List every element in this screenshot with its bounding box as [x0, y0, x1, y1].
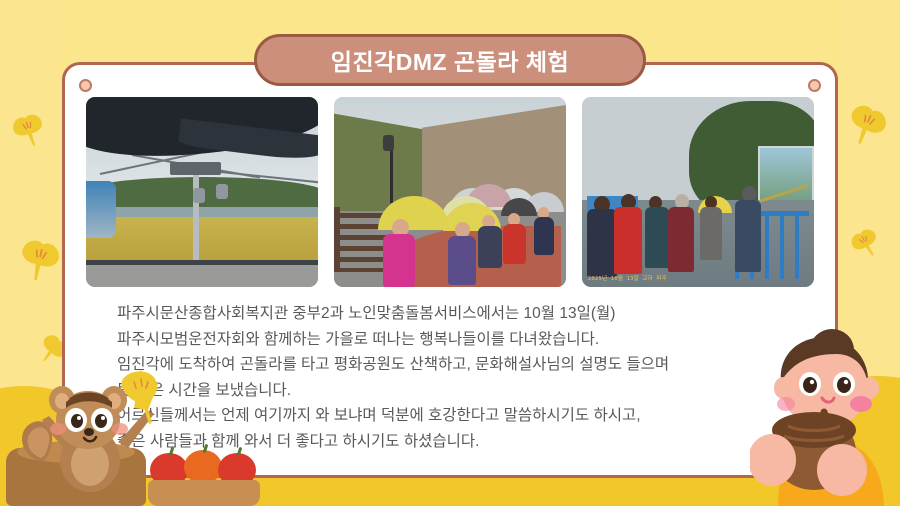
description-line: 파주시모범운전자회와 함께하는 가을로 떠나는 행복나들이를 다녀왔습니다. [117, 327, 809, 353]
gondola-cabin-far [216, 184, 228, 199]
person-purple-jacket [448, 236, 476, 285]
girl-with-acorn-mascot [750, 328, 900, 506]
photo-stamp: 2025년 10월 13일 교하 파주 [588, 274, 667, 282]
content-card: 2025년 10월 13일 교하 파주 파주시문산종합사회복지관 중부2과 노인… [62, 62, 838, 478]
page-title: 임진각DMZ 곤돌라 체험 [331, 43, 569, 77]
card-stud-top-right [808, 79, 821, 92]
person-magenta-jacket [383, 234, 415, 287]
person-navy-jacket [478, 226, 502, 268]
photo-guide-explaining[interactable]: 2025년 10월 13일 교하 파주 [582, 97, 814, 287]
wicker-basket [148, 480, 260, 506]
person-floral-jacket [587, 209, 617, 277]
description-text: 파주시문산종합사회복지관 중부2과 노인맞춤돌봄서비스에서는 10월 13일(월… [117, 301, 809, 454]
title-banner: 임진각DMZ 곤돌라 체험 [254, 34, 646, 86]
person-maroon-jacket [668, 207, 694, 272]
gondola-cabin-far [193, 188, 205, 203]
guide-person [735, 200, 761, 272]
poster-canvas: 2025년 10월 13일 교하 파주 파주시문산종합사회복지관 중부2과 노인… [0, 0, 900, 506]
gondola-mast [193, 169, 199, 260]
description-line: 임진각에 도착하여 곤돌라를 타고 평화공원도 산책하고, 문화해설사님의 설명… [117, 352, 809, 378]
gondola-tower-head [170, 162, 221, 175]
photo-gondola-station[interactable] [86, 97, 318, 287]
photo-seniors-umbrellas[interactable] [334, 97, 566, 287]
person-navy-suit [534, 217, 554, 255]
person-red-jacket [503, 224, 526, 264]
description-line: 파주시문산종합사회복지관 중부2과 노인맞춤돌봄서비스에서는 10월 13일(월… [117, 301, 809, 327]
street-lamp-head [383, 135, 394, 151]
person-grey-jacket [700, 207, 722, 260]
description-line: 뜻 깊은 시간을 보냈습니다. [117, 378, 809, 404]
description-line: 어르신들께서는 언제 여기까지 와 보냐며 덕분에 호강한다고 말씀하시기도 하… [117, 403, 809, 429]
gondola-cabin-near [86, 181, 116, 238]
card-stud-top-left [79, 79, 92, 92]
apple [184, 450, 222, 484]
platform-edge [86, 260, 318, 287]
person-teal-jacket [645, 207, 669, 268]
person-red-jacket [614, 207, 642, 274]
golden-field [86, 217, 318, 261]
photo-gallery: 2025년 10월 13일 교하 파주 [75, 97, 825, 287]
apple-basket [148, 450, 260, 506]
